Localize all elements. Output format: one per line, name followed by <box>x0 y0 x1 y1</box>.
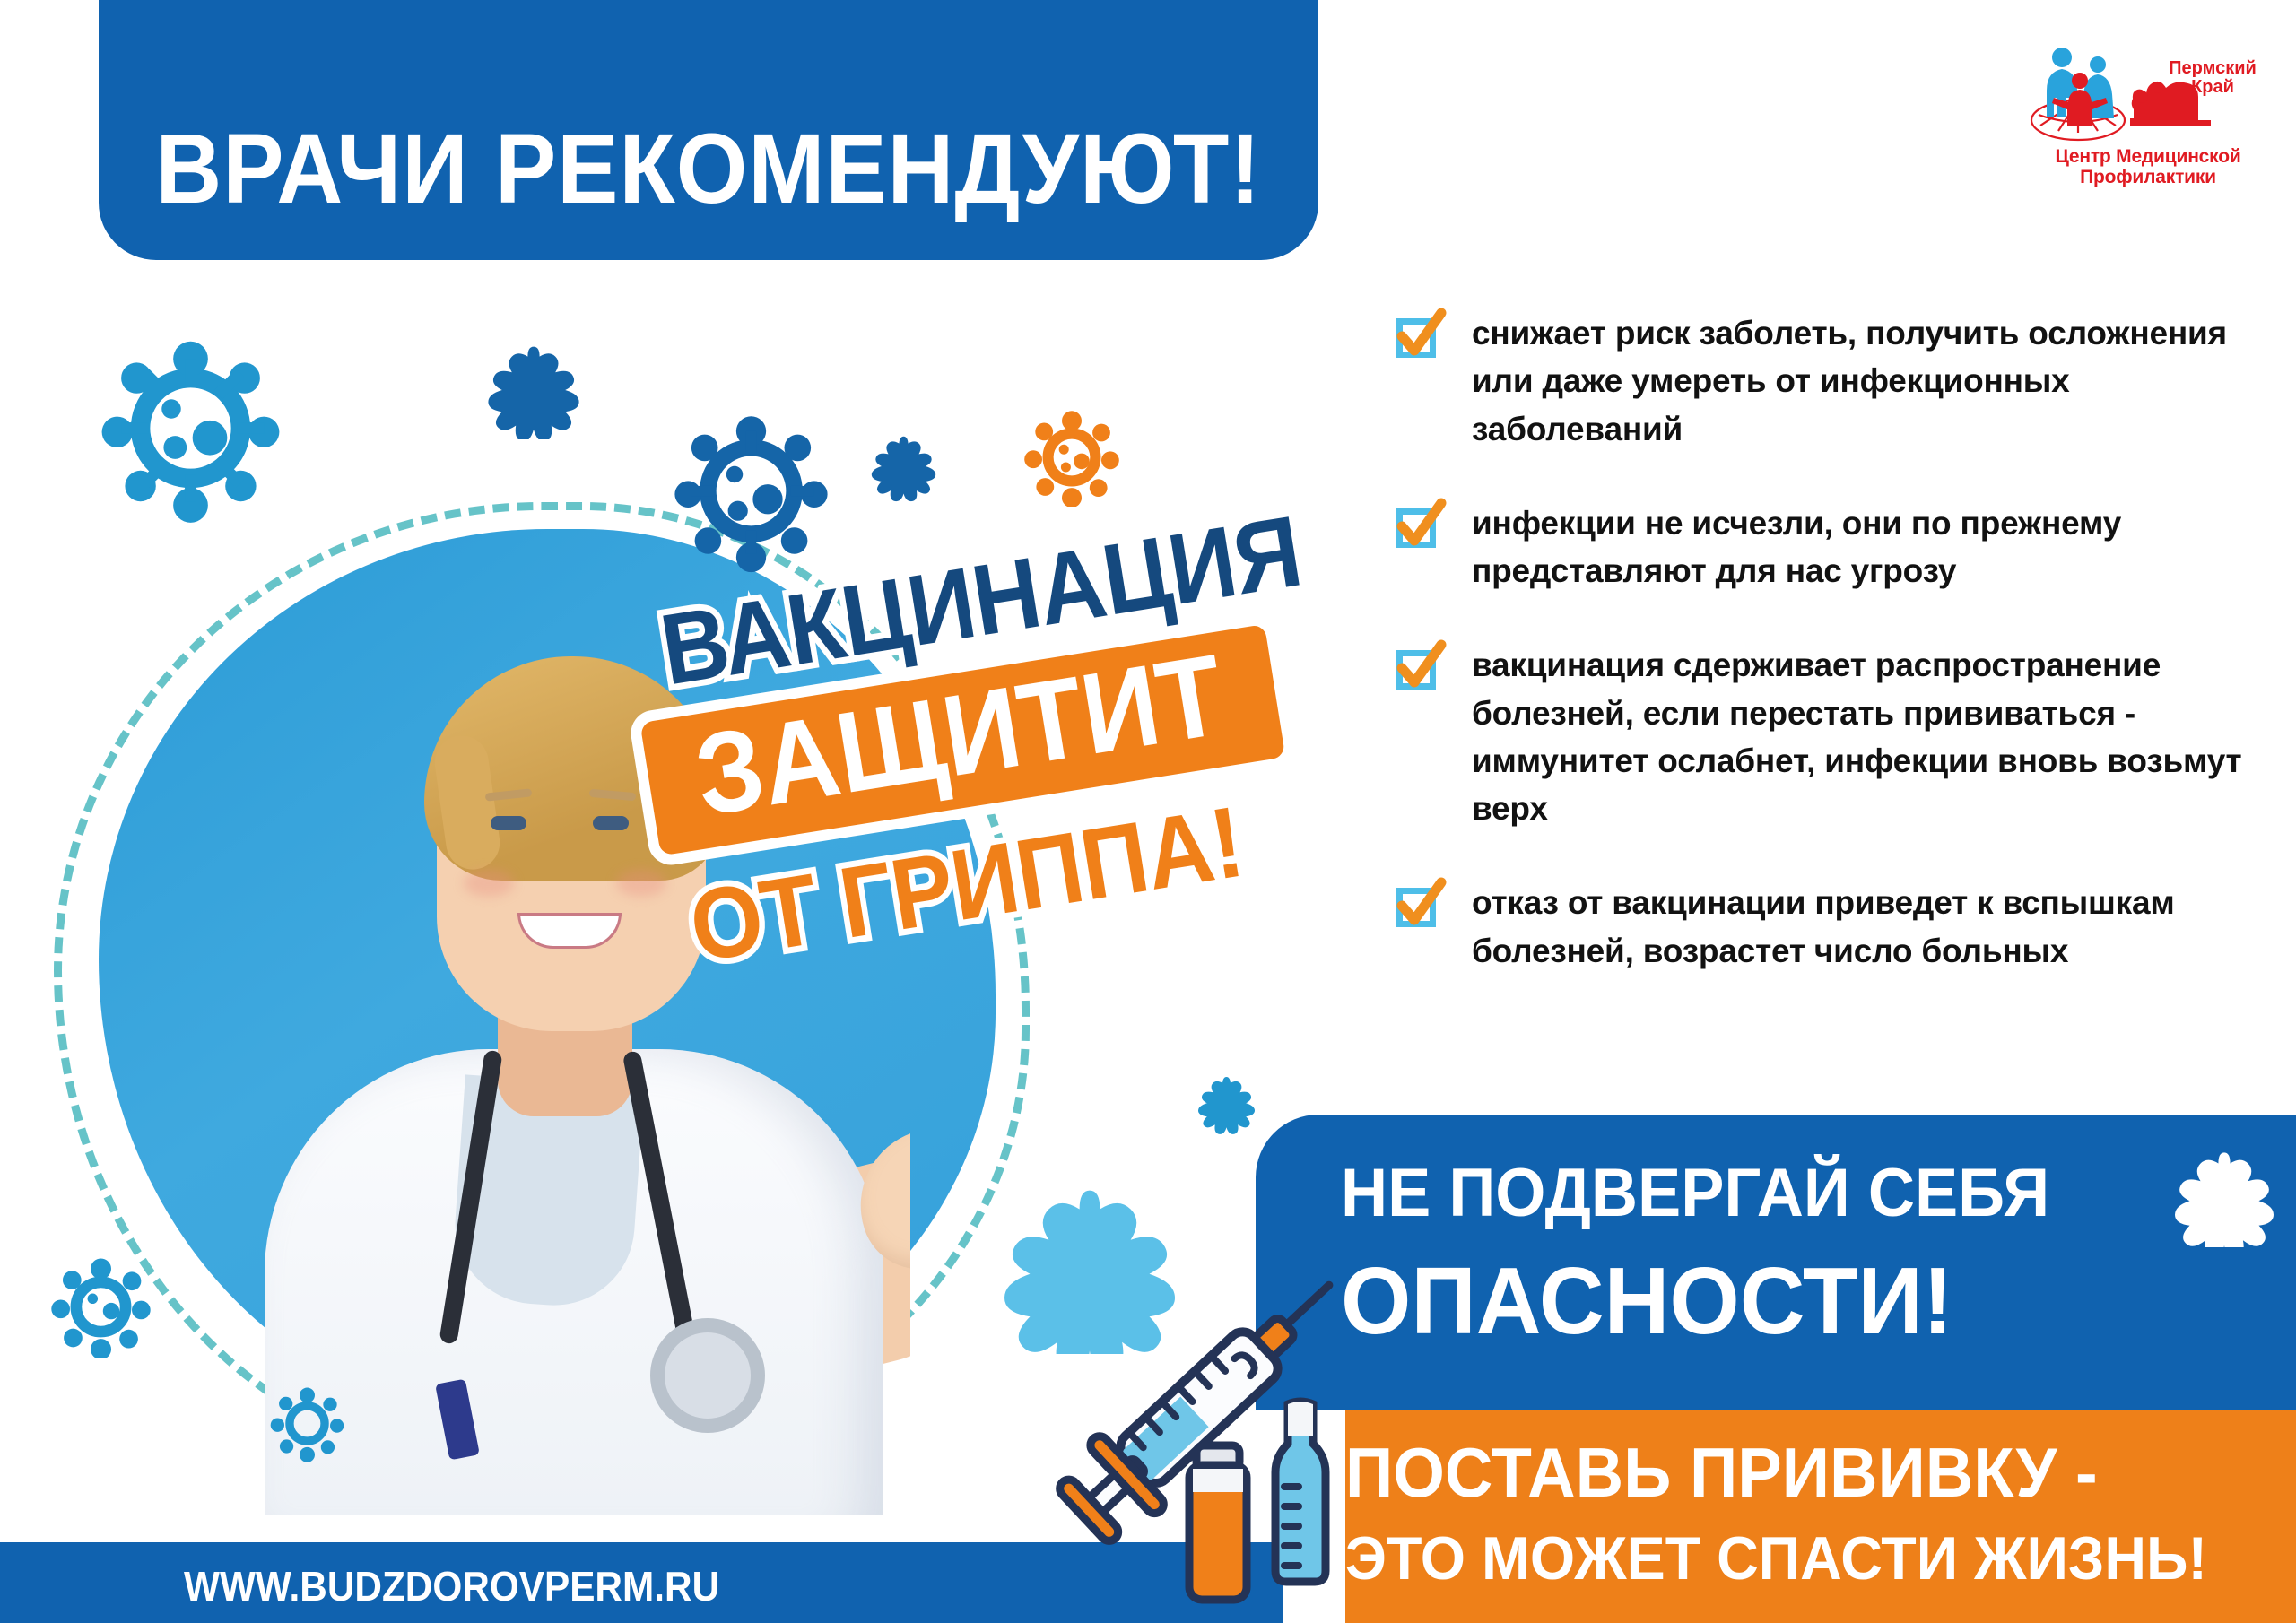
warning-banner: НЕ ПОДВЕРГАЙ СЕБЯ ОПАСНОСТИ! <box>1256 1115 2296 1410</box>
virus-icon <box>668 408 834 574</box>
list-item-label: снижает риск заболеть, получить осложнен… <box>1472 309 2256 453</box>
organization-logo: Пермский Край Центр Медицинской Профилак… <box>2022 38 2274 195</box>
virus-icon <box>1022 408 1121 507</box>
stethoscope-icon <box>354 1049 776 1471</box>
ampoule-icon <box>1275 1402 1326 1582</box>
cta-line2: ЭТО МОЖЕТ СПАСТИ ЖИЗНЬ! <box>1345 1523 2207 1593</box>
warning-line2: ОПАСНОСТИ! <box>1341 1247 1952 1356</box>
list-item-label: отказ от вакцинации приведет к вспышкам … <box>1472 879 2256 975</box>
stethoscope-bell <box>650 1318 765 1433</box>
list-item: вакцинация сдерживает распространение бо… <box>1395 641 2256 832</box>
logo-region-line1: Пермский <box>2169 58 2257 78</box>
logo-region-line2: Край <box>2191 77 2234 97</box>
check-mark-icon <box>1393 639 1448 695</box>
logo-org-line1: Центр Медицинской <box>2022 147 2274 167</box>
website-url[interactable]: WWW.BUDZDOROVPERM.RU <box>184 1562 719 1610</box>
virus-icon <box>484 341 583 439</box>
virus-icon <box>269 1385 345 1462</box>
logo-region: Пермский Край <box>2159 59 2266 97</box>
virus-icon <box>865 430 942 507</box>
checkbox-checked-icon <box>1395 881 1445 931</box>
virus-icon <box>2175 1149 2274 1247</box>
poster-root: ВРАЧИ РЕКОМЕНДУЮТ! <box>0 0 2296 1623</box>
checkbox-checked-icon <box>1395 311 1445 361</box>
vaccination-illustration <box>1013 1246 1399 1623</box>
check-mark-icon <box>1393 877 1448 933</box>
stethoscope-tube-left <box>439 1049 502 1344</box>
vaccine-vial-icon <box>1189 1445 1247 1600</box>
list-item-label: вакцинация сдерживает распространение бо… <box>1472 641 2256 832</box>
check-mark-icon <box>1393 498 1448 553</box>
benefits-checklist: снижает риск заболеть, получить осложнен… <box>1395 309 2256 1021</box>
doctor-eye-left <box>491 816 526 830</box>
warning-line1: НЕ ПОДВЕРГАЙ СЕБЯ <box>1341 1154 2049 1232</box>
list-item: отказ от вакцинации приведет к вспышкам … <box>1395 879 2256 975</box>
list-item-label: инфекции не исчезли, они по прежнему пре… <box>1472 499 2256 595</box>
list-item: инфекции не исчезли, они по прежнему пре… <box>1395 499 2256 595</box>
virus-icon <box>94 332 287 525</box>
checkbox-checked-icon <box>1395 643 1445 693</box>
list-item: снижает риск заболеть, получить осложнен… <box>1395 309 2256 453</box>
doctor-eye-right <box>593 816 629 830</box>
stethoscope-tube-right <box>622 1050 697 1344</box>
checkbox-checked-icon <box>1395 501 1445 551</box>
virus-icon <box>49 1255 152 1358</box>
check-mark-icon <box>1393 308 1448 363</box>
virus-icon <box>1193 1072 1260 1139</box>
cta-line1: ПОСТАВЬ ПРИВИВКУ - <box>1345 1432 2098 1514</box>
call-to-action-banner: ПОСТАВЬ ПРИВИВКУ - ЭТО МОЖЕТ СПАСТИ ЖИЗН… <box>1345 1410 2296 1623</box>
header-banner: ВРАЧИ РЕКОМЕНДУЮТ! <box>99 0 1318 260</box>
logo-org-line2: Профилактики <box>2022 168 2274 187</box>
page-title: ВРАЧИ РЕКОМЕНДУЮТ! <box>156 120 1262 219</box>
doctor-cheek-left <box>464 870 514 897</box>
